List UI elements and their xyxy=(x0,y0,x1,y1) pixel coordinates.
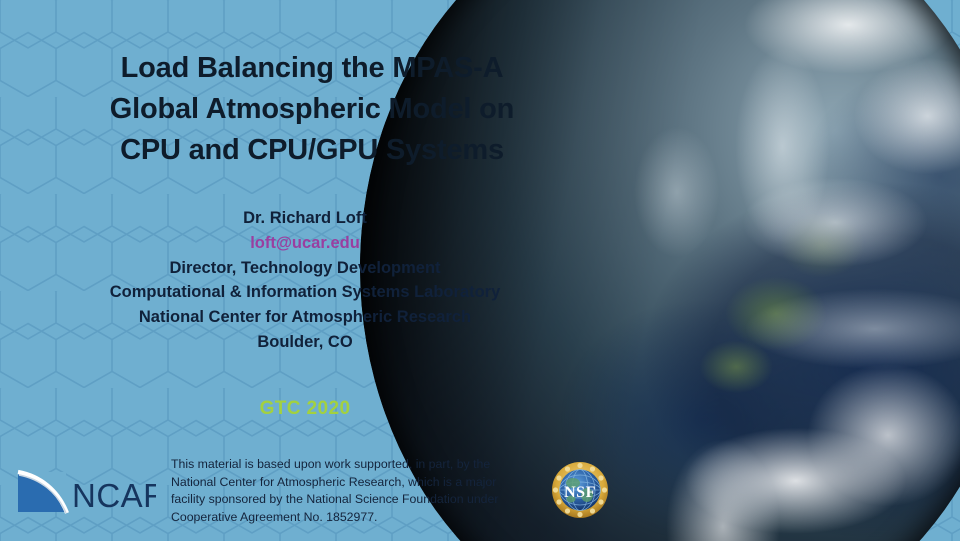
nsf-logo: NSF xyxy=(551,461,609,519)
author-laboratory: Computational & Information Systems Labo… xyxy=(40,280,570,305)
title-line-2: Global Atmospheric Model on xyxy=(48,89,576,130)
funding-acknowledgement: This material is based upon work support… xyxy=(171,456,523,526)
ncar-logo: NCAR xyxy=(16,466,156,518)
event-label: GTC 2020 xyxy=(40,398,570,420)
author-email[interactable]: loft@ucar.edu xyxy=(40,231,570,256)
ncar-logo-svg: NCAR xyxy=(16,466,156,518)
funding-line-3: facility sponsored by the National Scien… xyxy=(171,491,523,509)
author-organization: National Center for Atmospheric Research xyxy=(40,305,570,330)
author-name: Dr. Richard Loft xyxy=(40,206,570,231)
ncar-logo-mark xyxy=(18,472,67,513)
author-role: Director, Technology Development xyxy=(40,256,570,281)
funding-line-4: Cooperative Agreement No. 1852977. xyxy=(171,509,523,527)
funding-line-2: National Center for Atmospheric Research… xyxy=(171,474,523,492)
presentation-title-slide: Load Balancing the MPAS-A Global Atmosph… xyxy=(0,0,960,541)
title-line-3: CPU and CPU/GPU Systems xyxy=(48,130,576,171)
author-location: Boulder, CO xyxy=(40,330,570,355)
funding-line-1: This material is based upon work support… xyxy=(171,456,523,474)
slide-title: Load Balancing the MPAS-A Global Atmosph… xyxy=(48,48,576,171)
nsf-wordmark: NSF xyxy=(564,484,596,501)
title-line-1: Load Balancing the MPAS-A xyxy=(48,48,576,89)
nsf-logo-svg: NSF xyxy=(551,461,609,519)
ncar-wordmark: NCAR xyxy=(72,477,156,514)
author-affiliation-block: Dr. Richard Loft loft@ucar.edu Director,… xyxy=(40,206,570,355)
